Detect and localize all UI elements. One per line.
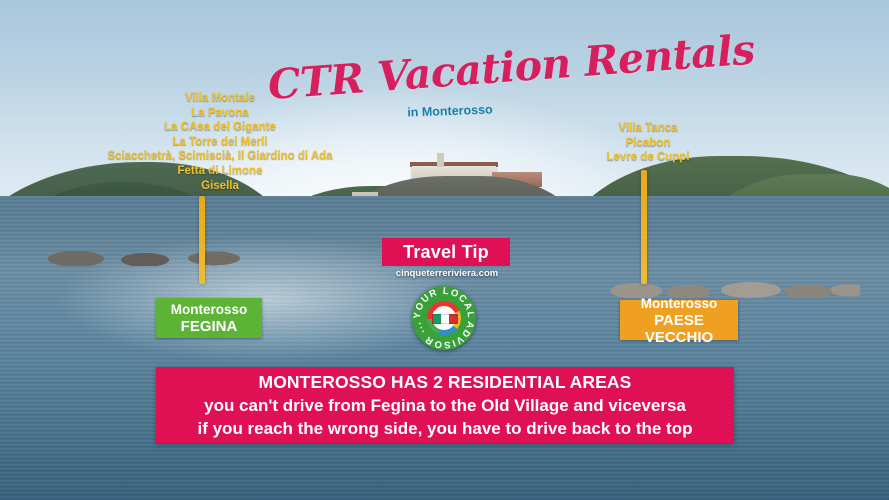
zone-label-fegina: Monterosso FEGINA	[156, 298, 262, 338]
italian-flag-icon	[432, 314, 458, 324]
rocks-left	[30, 250, 260, 266]
zone-fegina-town: Monterosso	[156, 301, 262, 318]
warning-banner: MONTEROSSO HAS 2 RESIDENTIAL AREAS you c…	[156, 367, 734, 443]
rentals-list-paese-vecchio: Villa Tanca Picabon Levre de Cuppi	[590, 121, 706, 165]
travel-tip-infographic: CTR Vacation Rentals in Monterosso Villa…	[0, 0, 889, 500]
travel-tip-badge: Travel Tip	[382, 238, 510, 266]
zone-fegina-area: FEGINA	[156, 318, 262, 335]
leader-line-left	[199, 196, 205, 284]
banner-line-1: MONTEROSSO HAS 2 RESIDENTIAL AREAS	[259, 372, 632, 393]
zone-paese-area: PAESE VECCHIO	[620, 312, 738, 346]
banner-line-3: if you reach the wrong side, you have to…	[198, 419, 693, 439]
banner-line-2: you can't drive from Fegina to the Old V…	[204, 396, 686, 416]
leader-line-right	[641, 170, 647, 284]
your-local-advisor-badge: YOUR LOCAL ADVISOR ...	[412, 286, 476, 350]
rentals-list-fegina: Villa Montale La Pavona La CAsa del Giga…	[90, 91, 350, 193]
castle-tower	[437, 153, 444, 167]
zone-label-paese-vecchio: Monterosso PAESE VECCHIO	[620, 300, 738, 340]
zone-paese-town: Monterosso	[620, 295, 738, 312]
website-url[interactable]: cinqueterreriviera.com	[372, 268, 522, 279]
